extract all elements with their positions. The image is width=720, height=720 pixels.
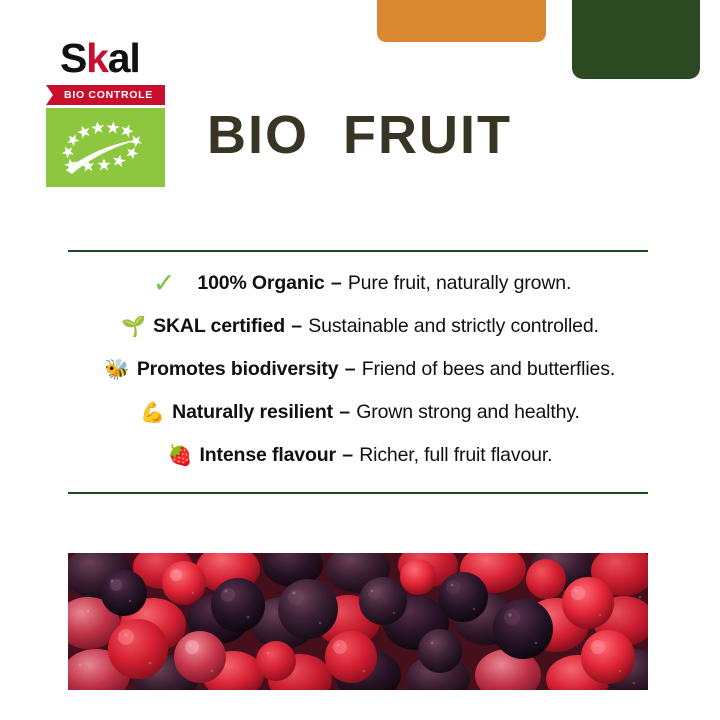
flexed-biceps-icon: 💪 [140, 403, 165, 423]
skal-wordmark-part-1: S [60, 35, 86, 81]
feature-dash: – [341, 444, 354, 466]
feature-term: 100% Organic [197, 272, 324, 294]
feature-dash: – [344, 358, 357, 380]
feature-description: Pure fruit, naturally grown. [348, 272, 571, 294]
feature-term: Naturally resilient [172, 401, 333, 423]
bio-controle-banner: BIO CONTROLE [46, 85, 165, 105]
list-item: 🌱 SKAL certified – Sustainable and stric… [0, 305, 720, 348]
feature-list: ✓ 100% Organic – Pure fruit, naturally g… [0, 262, 720, 477]
bee-icon: 🐝 [105, 360, 130, 380]
page-title: BIO FRUIT [207, 108, 512, 162]
feature-text: 100% Organic – Pure fruit, naturally gro… [197, 272, 571, 295]
skal-wordmark-part-k: k [86, 35, 108, 81]
page-header: Skal BIO CONTROLE [0, 0, 720, 210]
feature-text: SKAL certified – Sustainable and strictl… [153, 315, 599, 338]
berry-photo [68, 553, 648, 690]
feature-dash: – [338, 401, 351, 423]
feature-description: Richer, full fruit flavour. [359, 444, 552, 466]
feature-description: Sustainable and strictly controlled. [308, 315, 599, 337]
strawberry-icon: 🍓 [168, 446, 193, 466]
divider-bottom [68, 492, 648, 494]
list-item: 🍓 Intense flavour – Richer, full fruit f… [0, 434, 720, 477]
feature-dash: – [290, 315, 303, 337]
feature-text: Naturally resilient – Grown strong and h… [172, 401, 580, 424]
feature-term: Intense flavour [199, 444, 335, 466]
feature-term: SKAL certified [153, 315, 285, 337]
skal-bio-controle-logo: Skal BIO CONTROLE [46, 38, 172, 187]
skal-wordmark: Skal [46, 38, 172, 82]
seedling-icon: 🌱 [121, 317, 146, 337]
eu-organic-leaf-icon [46, 108, 165, 187]
feature-term: Promotes biodiversity [137, 358, 339, 380]
list-item: 🐝 Promotes biodiversity – Friend of bees… [0, 348, 720, 391]
feature-description: Grown strong and healthy. [356, 401, 580, 423]
check-icon: ✓ [153, 270, 176, 297]
feature-text: Intense flavour – Richer, full fruit fla… [199, 444, 552, 467]
list-item: 💪 Naturally resilient – Grown strong and… [0, 391, 720, 434]
divider-top [68, 250, 648, 252]
feature-description: Friend of bees and butterflies. [362, 358, 615, 380]
skal-wordmark-part-2: al [108, 35, 140, 81]
list-item: ✓ 100% Organic – Pure fruit, naturally g… [0, 262, 720, 305]
feature-dash: – [330, 272, 343, 294]
berry-photo-illustration [68, 553, 648, 690]
feature-text: Promotes biodiversity – Friend of bees a… [137, 358, 615, 381]
